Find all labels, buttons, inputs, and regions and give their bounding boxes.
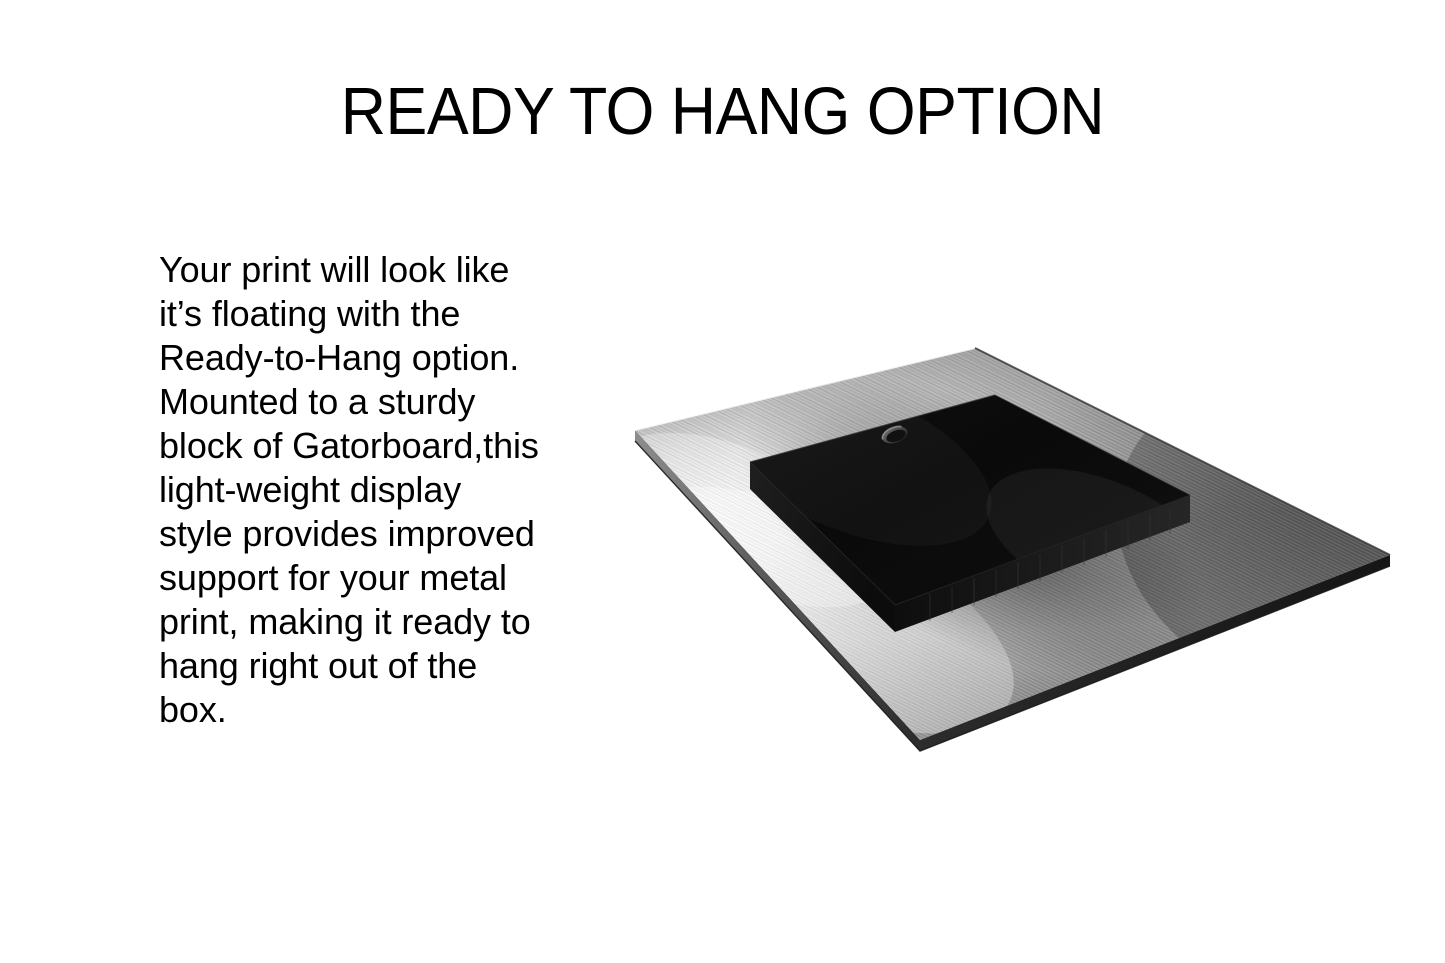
description-paragraph: Your print will look like it’s floating … [159,248,559,732]
metal-print-artwork [600,310,1430,780]
page-title: READY TO HANG OPTION [47,78,1398,145]
product-illustration [600,310,1430,780]
slide-canvas: READY TO HANG OPTION Your print will loo… [0,0,1445,963]
